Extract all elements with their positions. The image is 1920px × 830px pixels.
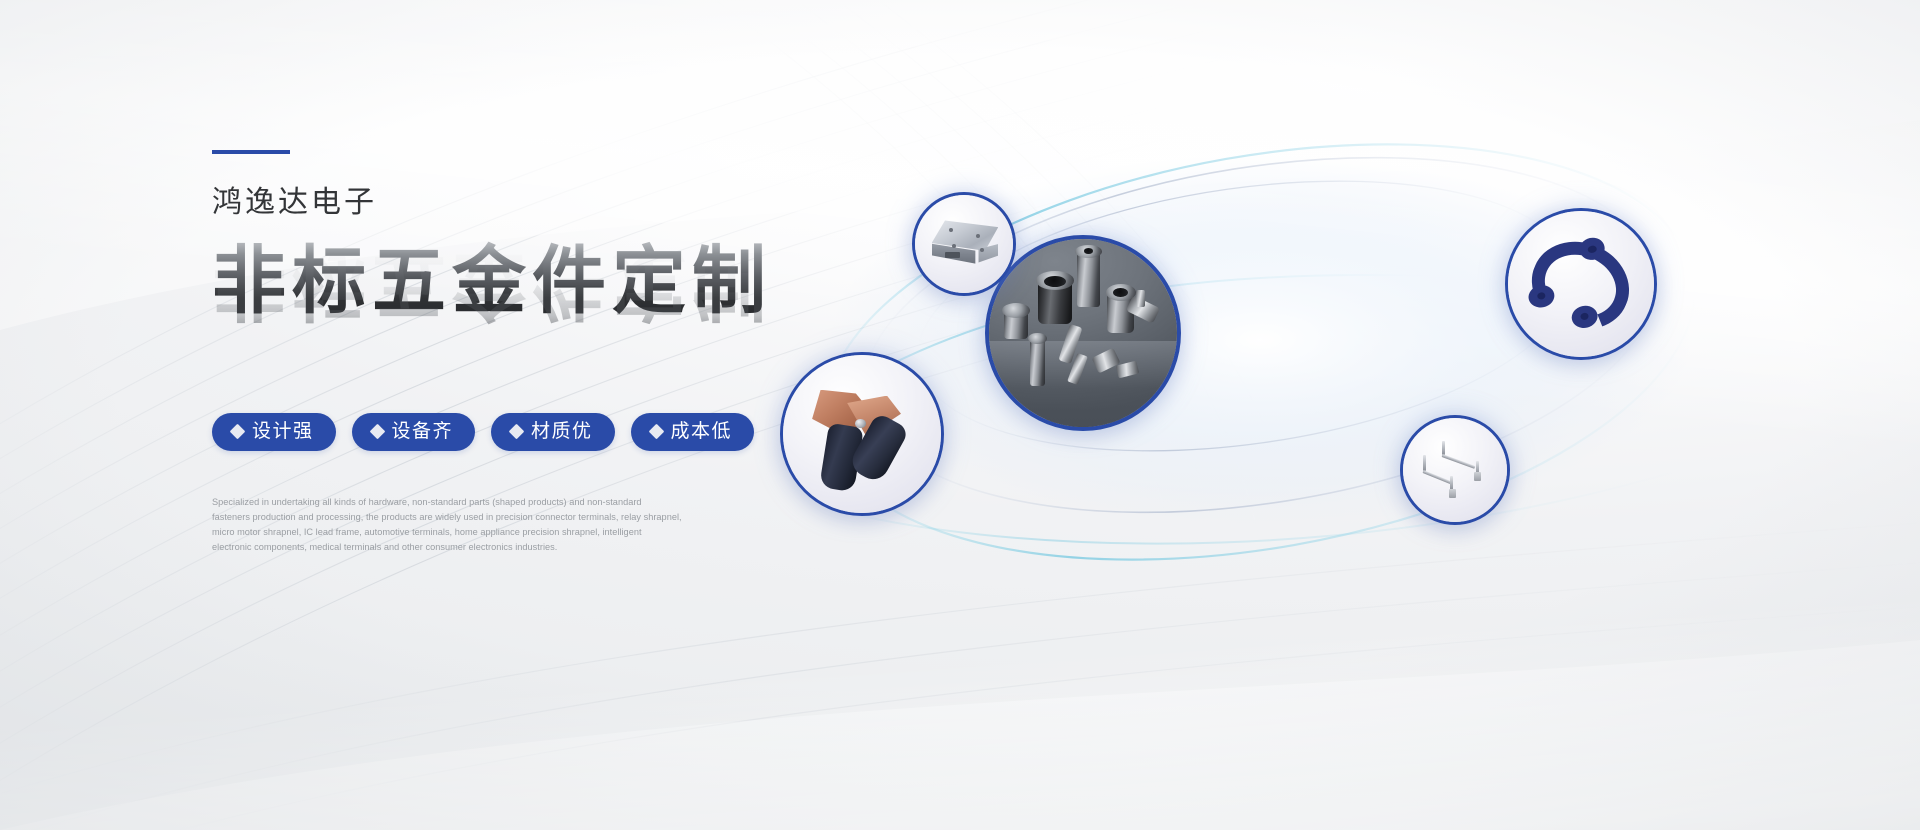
metal-enclosure-image [915, 195, 1013, 293]
c-ring-bracket-image [1508, 211, 1654, 357]
bent-pins-image [1403, 418, 1507, 522]
badge-cost[interactable]: 成本低 [631, 413, 755, 451]
bubble-metal-enclosure[interactable] [912, 192, 1016, 296]
company-description: Specialized in undertaking all kinds of … [212, 495, 682, 555]
bubble-hardware-parts[interactable] [985, 235, 1181, 431]
badge-equipment[interactable]: 设备齐 [352, 413, 476, 451]
hero-banner: 鸿逸达电子 非标五金件定制 非标五金件定制 设计强 设备齐 材质优 成本低 [0, 0, 1920, 830]
accent-bar [212, 150, 290, 154]
orbit-lines [740, 40, 1870, 660]
badge-design[interactable]: 设计强 [212, 413, 336, 451]
diamond-icon [509, 424, 525, 440]
bubble-bent-pins[interactable] [1400, 415, 1510, 525]
bubble-battery-clamp[interactable] [780, 352, 944, 516]
badge-label: 设备齐 [392, 422, 454, 441]
bubble-c-ring-bracket[interactable] [1505, 208, 1657, 360]
badge-label: 设计强 [252, 422, 314, 441]
badge-material[interactable]: 材质优 [491, 413, 615, 451]
diamond-icon [369, 424, 385, 440]
diamond-icon [648, 424, 664, 440]
hardware-parts-image [989, 239, 1177, 427]
battery-clamp-image [783, 355, 941, 513]
badge-label: 成本低 [671, 422, 733, 441]
badge-label: 材质优 [531, 422, 593, 441]
diamond-icon [230, 424, 246, 440]
product-showcase [740, 40, 1870, 660]
